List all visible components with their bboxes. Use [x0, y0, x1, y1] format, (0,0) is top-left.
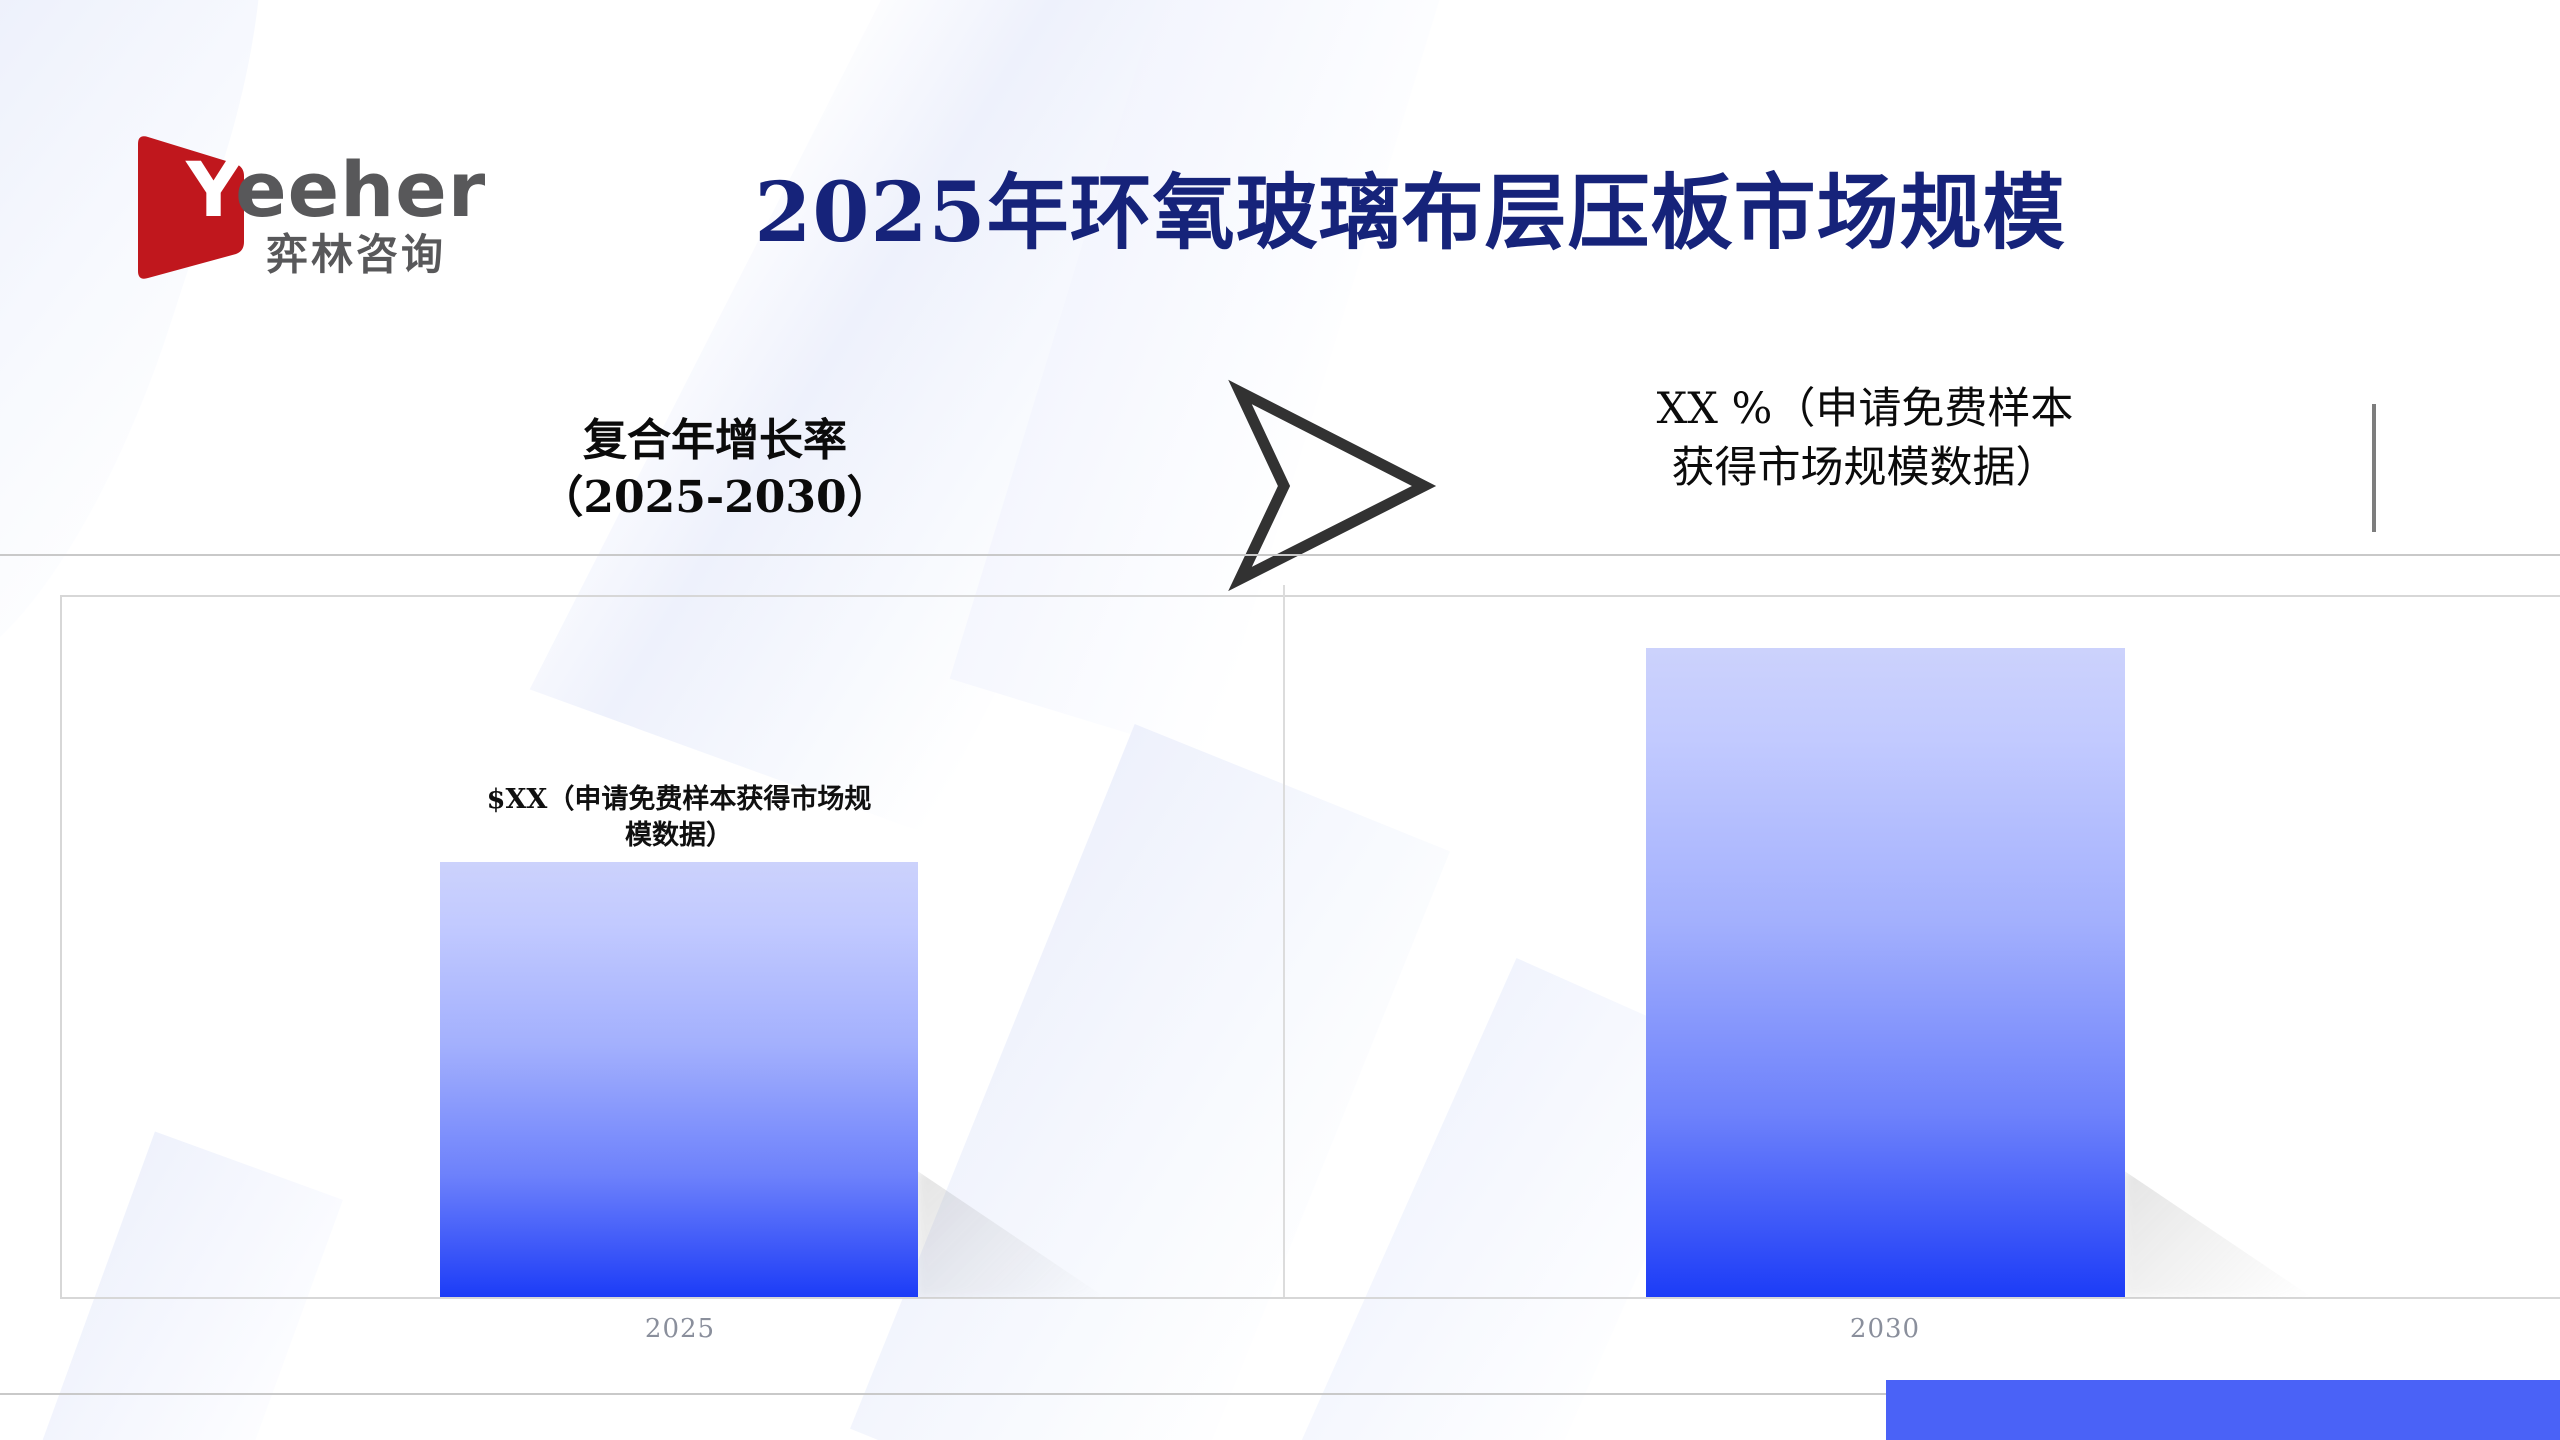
cagr-value-callout: XX %（申请免费样本 获得市场规模数据） [1595, 380, 2135, 499]
bar-value-label-2025-line2: 模数据） [442, 818, 916, 854]
bar-2025[interactable] [440, 862, 918, 1297]
logo-wordmark-cn: 弈林咨询 [266, 234, 446, 276]
logo-wordmark-initial: Y [186, 145, 235, 234]
page-title: 2025年环氧玻璃布层压板市场规模 [660, 168, 2160, 260]
cagr-label-line1: 复合年增长率 [460, 412, 970, 469]
vertical-rule-divider [2372, 404, 2376, 532]
logo-wordmark: Yeeher [186, 152, 486, 228]
cagr-value-line2: 获得市场规模数据） [1595, 439, 2135, 498]
cagr-label: 复合年增长率 （2025-2030） [460, 412, 970, 526]
x-tick-2030: 2030 [1645, 1314, 2125, 1344]
bar-value-label-2025: $XX（申请免费样本获得市场规 模数据） [442, 782, 916, 855]
bar-value-label-2025-line1: $XX（申请免费样本获得市场规 [442, 782, 916, 818]
cagr-value-line1: XX %（申请免费样本 [1595, 380, 2135, 439]
brand-logo: Yeeher 弈林咨询 [128, 122, 488, 302]
bar-2030[interactable] [1646, 648, 2125, 1297]
x-tick-2025: 2025 [440, 1314, 920, 1344]
chart-plot-frame [60, 595, 2560, 1299]
chart-mid-divider [1283, 585, 1285, 1297]
footer-accent-bar [1886, 1380, 2560, 1440]
slide-canvas: Yeeher 弈林咨询 2025年环氧玻璃布层压板市场规模 复合年增长率 （20… [0, 0, 2560, 1440]
cagr-label-line2: （2025-2030） [460, 469, 970, 526]
logo-wordmark-rest: eeher [235, 145, 486, 234]
